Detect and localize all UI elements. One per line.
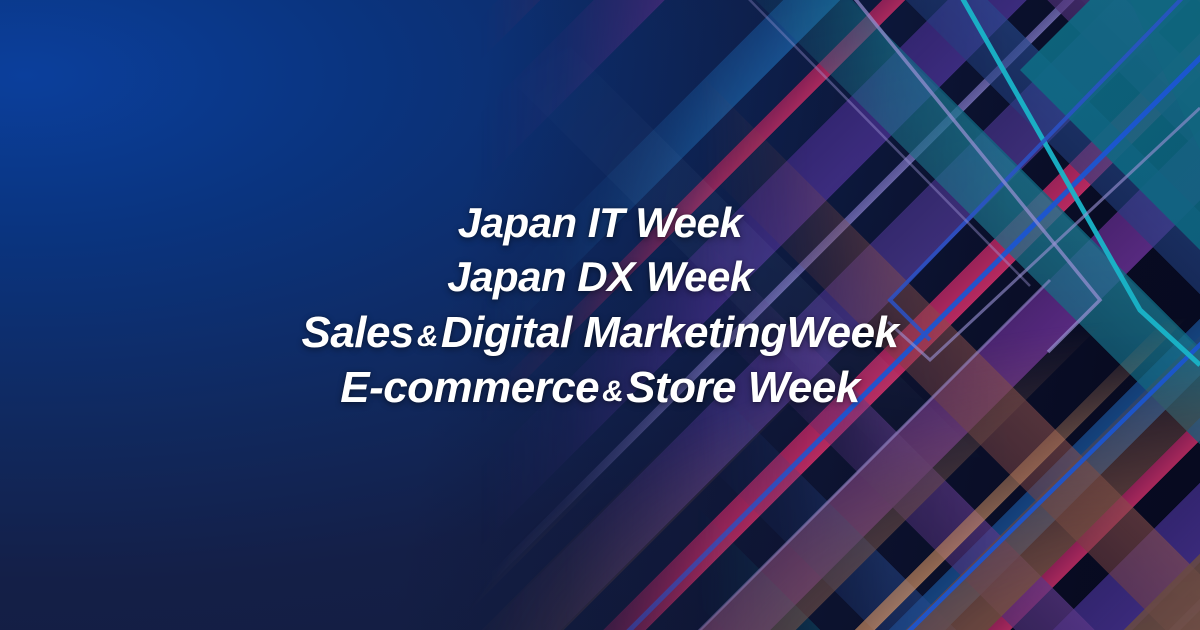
headline-line-4-suffix: Store Week bbox=[626, 363, 860, 412]
ampersand-icon: & bbox=[414, 320, 441, 353]
headline-line-3-prefix: Sales bbox=[302, 308, 414, 357]
ampersand-icon-2: & bbox=[599, 375, 626, 408]
event-banner: Japan IT Week Japan DX Week Sales&Digita… bbox=[0, 0, 1200, 630]
headline-line-4-prefix: E-commerce bbox=[340, 363, 599, 412]
headline-line-sales-digital-marketing-week: Sales&Digital MarketingWeek bbox=[0, 311, 1200, 355]
headline-line-japan-it-week: Japan IT Week bbox=[0, 202, 1200, 244]
headline-block: Japan IT Week Japan DX Week Sales&Digita… bbox=[0, 202, 1200, 410]
headline-line-3-suffix: Digital MarketingWeek bbox=[441, 308, 899, 357]
headline-line-ecommerce-store-week: E-commerce&Store Week bbox=[0, 366, 1200, 410]
headline-line-japan-dx-week: Japan DX Week bbox=[0, 256, 1200, 298]
